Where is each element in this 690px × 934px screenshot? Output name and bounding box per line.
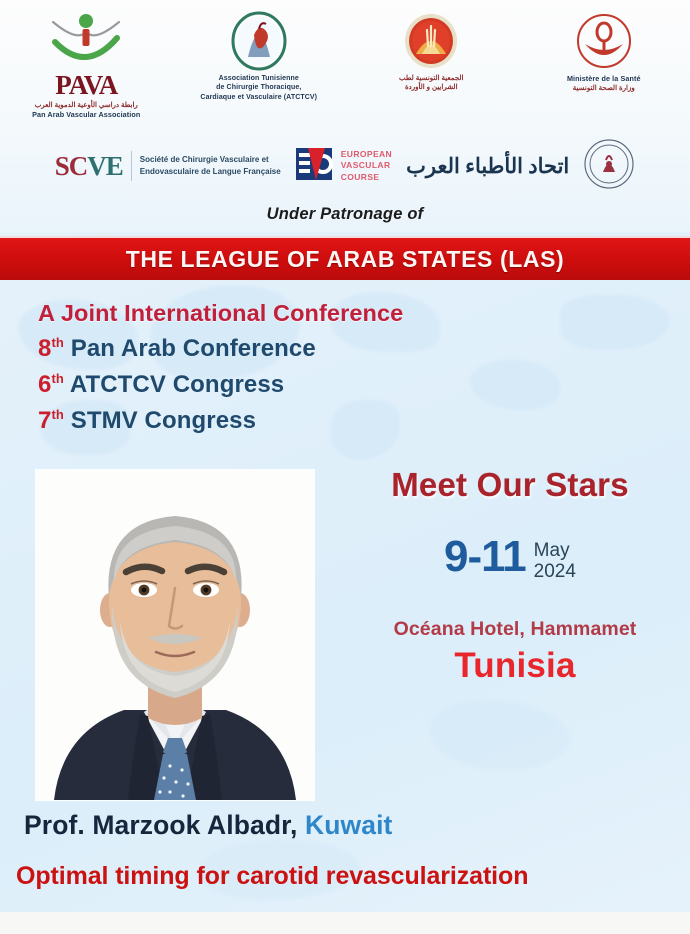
scve-letter-c: C: [69, 151, 88, 181]
conference-1-suffix: th: [51, 335, 63, 350]
scve-divider: [131, 151, 132, 181]
conference-line-3: 7th STMV Congress: [38, 407, 403, 435]
atctcv-heart-emblem-icon: [176, 10, 341, 72]
scve-subtitle-line-1: Société de Chirurgie Vasculaire et: [140, 154, 281, 166]
conference-poster: PAVA رابطة دراسي الأوعية الدموية العرب P…: [0, 0, 690, 934]
joint-conference-title: A Joint International Conference: [38, 300, 403, 327]
tunisian-society-seal-icon: [349, 10, 514, 72]
world-map-watermark: [560, 295, 670, 350]
evc-line-3: COURSE: [341, 172, 392, 183]
tunisian-society-caption: الجمعية التونسية لطب الشرايين و الأوردة: [349, 74, 514, 93]
ministry-caption: Ministère de la Santé وزارة الصحة التونس…: [521, 74, 686, 93]
arab-medical-union-seal-icon: [583, 138, 635, 195]
atctcv-line-2: de Chirurgie Thoracique,: [176, 83, 341, 92]
pava-arabic-name: رابطة دراسي الأوعية الدموية العرب: [4, 101, 169, 110]
atctcv-line-1: Association Tunisienne: [176, 74, 341, 83]
conference-line-1: 8th Pan Arab Conference: [38, 335, 403, 363]
country-label: Tunisia: [345, 646, 685, 686]
date-range: 9-11: [444, 536, 526, 578]
month-year: May 2024: [534, 540, 576, 583]
pava-wordmark: PAVA: [4, 72, 169, 99]
conference-titles: A Joint International Conference 8th Pan…: [38, 300, 403, 435]
pava-figure-icon: [4, 10, 169, 72]
scve-logo: SCVE Société de Chirurgie Vasculaire et …: [55, 151, 281, 182]
poster-bottom-strip: [0, 912, 690, 934]
arab-medical-union-wordmark: اتحاد الأطباء العرب: [406, 154, 569, 179]
evc-emblem-icon: [295, 144, 335, 189]
conference-2-suffix: th: [51, 371, 63, 386]
speaker-portrait-illustration: [36, 470, 314, 800]
sponsor-logo-row-bottom: SCVE Société de Chirurgie Vasculaire et …: [0, 132, 690, 200]
world-map-watermark: [430, 700, 570, 770]
scve-subtitle-line-2: Endovasculaire de Langue Française: [140, 166, 281, 178]
pava-logo: PAVA رابطة دراسي الأوعية الدموية العرب P…: [4, 10, 169, 120]
month-label: May: [534, 540, 576, 561]
ministry-arabic-name: وزارة الصحة التونسية: [521, 84, 686, 93]
conference-line-2: 6th ATCTCV Congress: [38, 371, 403, 399]
scve-letter-v: V: [87, 151, 106, 181]
tunisian-vascular-society-logo: الجمعية التونسية لطب الشرايين و الأوردة: [349, 10, 514, 93]
conference-3-name: STMV Congress: [71, 407, 256, 434]
speaker-name: Prof. Marzook Albadr,: [24, 810, 298, 840]
conference-2-name: ATCTCV Congress: [70, 371, 284, 398]
patronage-label: Under Patronage of: [0, 205, 690, 224]
ministry-of-health-logo: Ministère de la Santé وزارة الصحة التونس…: [521, 10, 686, 93]
conference-3-suffix: th: [51, 407, 63, 422]
ministry-health-crescent-icon: [521, 10, 686, 72]
conference-3-ordinal: 7th: [38, 407, 64, 434]
year-label: 2024: [534, 561, 576, 582]
scve-wordmark: SCVE: [55, 151, 123, 182]
evc-line-2: VASCULAR: [341, 160, 392, 171]
evc-subtitle: EUROPEAN VASCULAR COURSE: [341, 149, 392, 183]
conference-1-name: Pan Arab Conference: [71, 335, 316, 362]
meet-our-stars-heading: Meet Our Stars: [345, 466, 675, 504]
scve-letter-e: E: [106, 151, 123, 181]
european-vascular-course-logo: EUROPEAN VASCULAR COURSE: [295, 144, 392, 189]
talk-title: Optimal timing for carotid revasculariza…: [16, 862, 678, 891]
pava-caption: رابطة دراسي الأوعية الدموية العرب Pan Ar…: [4, 101, 169, 120]
atctcv-logo: Association Tunisienne de Chirurgie Thor…: [176, 10, 341, 102]
evc-line-1: EUROPEAN: [341, 149, 392, 160]
ministry-latin-name: Ministère de la Santé: [567, 74, 641, 83]
patron-banner-text: THE LEAGUE OF ARAB STATES (LAS): [126, 246, 565, 273]
sponsor-logo-row-top: PAVA رابطة دراسي الأوعية الدموية العرب P…: [0, 10, 690, 120]
pava-latin-name: Pan Arab Vascular Association: [32, 110, 140, 119]
world-map-watermark: [470, 360, 560, 410]
venue-label: Océana Hotel, Hammamet: [345, 618, 685, 641]
speaker-line: Prof. Marzook Albadr, Kuwait: [24, 810, 392, 841]
speaker-portrait: [36, 470, 314, 800]
atctcv-line-3: Cardiaque et Vasculaire (ATCTCV): [176, 93, 341, 102]
conference-dates: 9-11 May 2024: [345, 536, 675, 583]
scve-letter-s: S: [55, 151, 69, 181]
atctcv-caption: Association Tunisienne de Chirurgie Thor…: [176, 74, 341, 102]
scve-subtitle: Société de Chirurgie Vasculaire et Endov…: [140, 154, 281, 177]
conference-1-ordinal: 8th: [38, 335, 64, 362]
conference-2-ordinal: 6th: [38, 371, 64, 398]
patron-banner: THE LEAGUE OF ARAB STATES (LAS): [0, 236, 690, 280]
tunisian-society-arabic-2: الشرايين و الأوردة: [349, 83, 514, 92]
tunisian-society-arabic-1: الجمعية التونسية لطب: [349, 74, 514, 83]
speaker-country: Kuwait: [305, 810, 392, 840]
